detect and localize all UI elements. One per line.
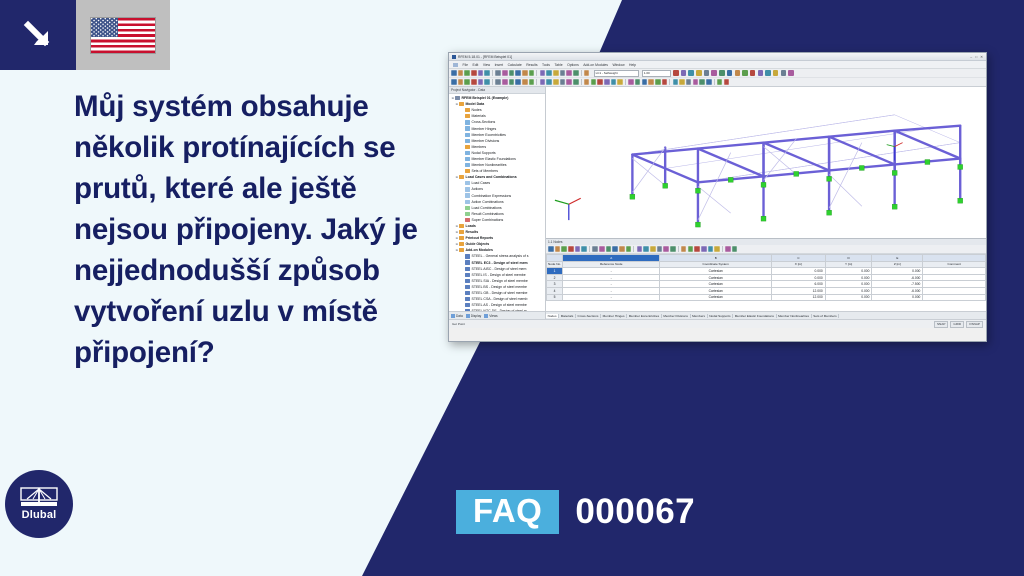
toolbar-icon-35[interactable] — [673, 79, 679, 85]
toolbar-icon-ext-11[interactable] — [758, 70, 764, 76]
menu-item-insert[interactable]: Insert — [495, 63, 503, 67]
table-cell-z[interactable]: 0.000 — [872, 294, 923, 301]
main-toolbar[interactable]: LC1 - Selfweight1.00 — [449, 69, 986, 78]
view-column: 1.1 Nodes ABCDE Node No.Reference NodeCo… — [546, 87, 986, 319]
grid-corner — [547, 255, 563, 262]
toolbar-icon-22[interactable] — [591, 79, 597, 85]
tree-item-label: Member Divisions — [472, 139, 500, 143]
tree-item-label: Model Data — [466, 102, 485, 106]
table-tab-member-nonlinearities[interactable]: Member Nonlinearities — [777, 314, 812, 318]
toolbar-separator — [714, 79, 715, 85]
nodes-grid[interactable]: ABCDE Node No.Reference NodeCoordinate S… — [546, 254, 986, 311]
toolbar-icon-11[interactable] — [522, 70, 528, 76]
toolbar-icon-14[interactable] — [540, 79, 546, 85]
tree-item-icon — [465, 181, 470, 185]
toolbar-icon-ext-15[interactable] — [788, 70, 794, 76]
table-cell-no[interactable]: 2 — [547, 274, 563, 281]
toolbar-icon-0[interactable] — [548, 246, 554, 252]
grid-column-comment[interactable] — [923, 255, 986, 262]
tree-item-icon — [465, 297, 470, 301]
tree-item-icon — [465, 212, 470, 216]
tree-item-label: Cross-Sections — [472, 120, 496, 124]
work-area: Project Navigator - Data ⊞RFEM Beispiel … — [449, 87, 986, 319]
toolbar-icon-30[interactable] — [642, 79, 648, 85]
us-flag-icon — [91, 18, 155, 53]
tree-item-icon — [465, 260, 470, 264]
toolbar-icon-ext-8[interactable] — [735, 70, 741, 76]
table-cell-no[interactable]: 1 — [547, 268, 563, 275]
navigator-tab-display[interactable]: Display — [466, 314, 481, 318]
coordinate-axis-icon — [555, 198, 581, 220]
table-cell-sys[interactable]: Cartesian — [660, 274, 772, 281]
toolbar-icon-ext-5[interactable] — [711, 70, 717, 76]
tree-item-icon — [459, 242, 464, 246]
toolbar-icon-3[interactable] — [471, 70, 477, 76]
tree-item-icon — [459, 175, 464, 179]
tree-item-label: STEEL GB - Design of steel membe — [472, 291, 528, 295]
toolbar-icon-36[interactable] — [679, 79, 685, 85]
menu-bar[interactable]: FileEditViewInsertCalculateResultsToolsT… — [449, 61, 986, 69]
toolbar-icon-23[interactable] — [694, 246, 700, 252]
tree-item-label: Super Combinations — [472, 218, 504, 222]
toolbar-icon-2[interactable] — [561, 246, 567, 252]
tree-item-label: Result Combinations — [472, 212, 504, 216]
toolbar-icon-18[interactable] — [566, 70, 572, 76]
toolbar-icon-12[interactable] — [529, 79, 535, 85]
toolbar-icon-8[interactable] — [502, 79, 508, 85]
toolbar-icon-39[interactable] — [699, 79, 705, 85]
status-left-text: Get Point — [452, 322, 465, 326]
tree-item-icon — [465, 187, 470, 191]
tree-item-label: Materials — [472, 114, 486, 118]
toolbar-separator — [633, 246, 634, 252]
toolbar-icon-15[interactable] — [546, 70, 552, 76]
toolbar-icon-38[interactable] — [693, 79, 699, 85]
table-cell-sys[interactable]: Cartesian — [660, 287, 772, 294]
toolbar-icon-17[interactable] — [560, 70, 566, 76]
slide-canvas: Můj systém obsahuje několik protínajícíc… — [0, 0, 1024, 576]
tree-item-icon — [465, 145, 470, 149]
toolbar-icon-4[interactable] — [478, 79, 484, 85]
tree-item-icon — [465, 120, 470, 124]
menu-item-file[interactable]: File — [463, 63, 468, 67]
table-cell-x[interactable]: 0.000 — [772, 268, 826, 275]
navigator-tab-data[interactable]: Data — [451, 314, 463, 318]
tree-item-icon — [465, 108, 470, 112]
navigator-tab-views[interactable]: Views — [484, 314, 497, 318]
table-panel[interactable]: 1.1 Nodes ABCDE Node No.Reference NodeCo… — [546, 238, 986, 319]
toolbar-icon-26[interactable] — [714, 246, 720, 252]
toolbar-icon-37[interactable] — [686, 79, 692, 85]
maximize-button[interactable]: □ — [975, 55, 977, 59]
project-navigator[interactable]: Project Navigator - Data ⊞RFEM Beispiel … — [449, 87, 546, 319]
toolbar-icon-29[interactable] — [732, 246, 738, 252]
tree-item-label: Member Eccentricities — [472, 133, 506, 137]
tree-item-label: Add-on Modules — [466, 248, 493, 252]
navigator-tree[interactable]: ⊞RFEM Beispiel 01 (Example)⊞Model DataNo… — [449, 94, 545, 311]
table-cell-comment[interactable] — [923, 281, 986, 288]
table-cell-comment[interactable] — [923, 268, 986, 275]
tree-item-label: STEEL BS - Design of steel membe — [472, 285, 528, 289]
toolbar-icon-21[interactable] — [584, 79, 590, 85]
table-cell-z[interactable]: 0.000 — [872, 268, 923, 275]
menu-item-tools[interactable]: Tools — [542, 63, 550, 67]
tree-item-label: STEEL IS - Design of steel membe — [472, 273, 526, 277]
toolbar-icon-ext-4[interactable] — [704, 70, 710, 76]
navigator-tabs[interactable]: DataDisplayViews — [449, 311, 545, 319]
table-cell-ref[interactable]: - — [563, 294, 660, 301]
navigator-header: Project Navigator - Data — [449, 87, 545, 94]
toolbar-separator — [536, 79, 537, 85]
toolbar-icon-ext-13[interactable] — [773, 70, 779, 76]
faq-label-badge: FAQ — [456, 490, 559, 534]
menu-item-help[interactable]: Help — [629, 63, 636, 67]
table-cell-y[interactable]: 0.000 — [825, 268, 872, 275]
dlubal-logo-text: Dlubal — [22, 509, 57, 521]
table-tab-nodes[interactable]: Nodes — [546, 314, 559, 318]
table-toolbar[interactable] — [546, 245, 986, 254]
table-cell-sys[interactable]: Cartesian — [660, 268, 772, 275]
toolbar-separator — [581, 70, 582, 76]
arrow-down-right-icon — [0, 0, 76, 70]
tree-item-label: STEEL EC3 - Design of steel mem — [472, 261, 528, 265]
toolbar-icon-24[interactable] — [604, 79, 610, 85]
menu-item-add-on-modules[interactable]: Add-on Modules — [583, 63, 608, 67]
toolbar-icon-23[interactable] — [597, 79, 603, 85]
status-bar: Get Point SNAPGRIDOSNAP — [449, 319, 986, 328]
table-cell-no[interactable]: 3 — [547, 281, 563, 288]
grid-column-letter[interactable]: A — [563, 255, 660, 262]
toolbar-icon-15[interactable] — [643, 246, 649, 252]
table-cell-y[interactable]: 0.000 — [825, 274, 872, 281]
toolbar-separator — [492, 70, 493, 76]
tree-item-label: Member Hinges — [472, 127, 497, 131]
tab-label: Display — [471, 314, 481, 318]
tree-item-label: Sets of Members — [472, 169, 498, 173]
grid-column-letter[interactable]: D — [825, 255, 872, 262]
toolbar-icon-ext-14[interactable] — [781, 70, 787, 76]
grid-column-letter[interactable]: B — [660, 255, 772, 262]
toolbar-separator — [669, 79, 670, 85]
tree-item-label: Member Elastic Foundations — [472, 157, 516, 161]
table-cell-ref[interactable]: - — [563, 281, 660, 288]
menu-item-options[interactable]: Options — [567, 63, 579, 67]
tab-icon — [451, 314, 455, 318]
tree-item-icon — [465, 151, 470, 155]
toolbar-icon-9[interactable] — [509, 70, 515, 76]
close-button[interactable]: ✕ — [980, 55, 983, 59]
toolbar-icon-10[interactable] — [515, 70, 521, 76]
table-cell-x[interactable]: 0.000 — [772, 274, 826, 281]
window-titlebar: RFEM 5.18.01 - [RFEM Beispiel 01] – □ ✕ — [449, 53, 986, 61]
toolbar-icon-42[interactable] — [717, 79, 723, 85]
table-tab-members[interactable]: Members — [691, 314, 708, 318]
toolbar-icon-43[interactable] — [724, 79, 730, 85]
faq-footer: FAQ 000067 — [456, 490, 695, 534]
tree-item-icon — [465, 218, 470, 222]
question-text: Můj systém obsahuje několik protínajícíc… — [74, 86, 434, 373]
toolbar-separator — [492, 79, 493, 85]
table-tab-member-elastic-foundations[interactable]: Member Elastic Foundations — [733, 314, 776, 318]
tree-item-label: Nodal Supports — [472, 151, 496, 155]
minimize-button[interactable]: – — [970, 55, 972, 59]
toolbar-separator — [625, 79, 626, 85]
table-cell-y[interactable]: 0.000 — [825, 281, 872, 288]
toolbar-icon-29[interactable] — [635, 79, 641, 85]
tab-label: Data — [456, 314, 463, 318]
rfem-application-window[interactable]: RFEM 5.18.01 - [RFEM Beispiel 01] – □ ✕ … — [448, 52, 987, 342]
tree-item-label: Combination Expressions — [472, 194, 512, 198]
toolbar-icon-12[interactable] — [529, 70, 535, 76]
status-toggle-grid[interactable]: GRID — [950, 321, 964, 328]
toolbar-icon-12[interactable] — [626, 246, 632, 252]
toolbar-icon-11[interactable] — [522, 79, 528, 85]
toolbar-icon-33[interactable] — [662, 79, 668, 85]
table-cell-no[interactable]: 4 — [547, 287, 563, 294]
tree-item-label: Printout Reports — [466, 236, 494, 240]
table-tab-member-eccentricities[interactable]: Member Eccentricities — [627, 314, 662, 318]
toolbar-icon-19[interactable] — [573, 79, 579, 85]
table-tab-materials[interactable]: Materials — [559, 314, 576, 318]
tree-item-label: Member Nonlinearities — [472, 163, 507, 167]
tree-item-label: STEEL AISC - Design of steel mem — [472, 267, 527, 271]
tree-item-icon — [459, 248, 464, 252]
table-row[interactable]: 4-Cartesian12.0000.000-6.000 — [547, 287, 986, 294]
table-cell-ref[interactable]: - — [563, 274, 660, 281]
table-cell-sys[interactable]: Cartesian — [660, 281, 772, 288]
toolbar-icon-5[interactable] — [484, 70, 490, 76]
toolbar-icon-14[interactable] — [540, 70, 546, 76]
table-cell-ref[interactable]: - — [563, 287, 660, 294]
tree-item-label: Loads — [466, 224, 476, 228]
grid-header: Reference Node — [563, 261, 660, 268]
grid-header-coord: X [m] — [772, 261, 826, 268]
toolbar-separator — [678, 246, 679, 252]
table-row[interactable]: 5-Cartesian12.0000.0000.000 — [547, 294, 986, 301]
tree-item-icon — [465, 267, 470, 271]
tree-item-label: RFEM Beispiel 01 (Example) — [462, 96, 509, 100]
table-cell-ref[interactable]: - — [563, 268, 660, 275]
toolbar-icon-9[interactable] — [509, 79, 515, 85]
tree-item-icon — [465, 133, 470, 137]
table-row[interactable]: 1-Cartesian0.0000.0000.000 — [547, 268, 986, 275]
toolbar-icon-28[interactable] — [628, 79, 634, 85]
toolbar-icon-1[interactable] — [458, 79, 464, 85]
toolbar-separator — [589, 246, 590, 252]
table-cell-y[interactable]: 0.000 — [825, 294, 872, 301]
toolbar-icon-22[interactable] — [688, 246, 694, 252]
tree-item-label: STEEL SIA - Design of steel membe — [472, 279, 528, 283]
tree-item-label: Members — [472, 145, 487, 149]
toolbar-icon-ext-2[interactable] — [688, 70, 694, 76]
tree-item-icon — [465, 206, 470, 210]
table-tab-cross-sections[interactable]: Cross-Sections — [576, 314, 601, 318]
toolbar-icon-7[interactable] — [495, 70, 501, 76]
toolbar-icon-ext-12[interactable] — [765, 70, 771, 76]
toolbar-icon-10[interactable] — [515, 79, 521, 85]
grid-column-letter[interactable]: C — [772, 255, 826, 262]
table-cell-z[interactable]: -6.000 — [872, 287, 923, 294]
toolbar-icon-11[interactable] — [619, 246, 625, 252]
tree-item-label: Load Combinations — [472, 206, 502, 210]
toolbar-icon-0[interactable] — [451, 79, 457, 85]
factor-combo[interactable]: 1.00 — [642, 70, 671, 77]
table-tab-sets-of-members[interactable]: Sets of Members — [812, 314, 840, 318]
table-tab-member-divisions[interactable]: Member Divisions — [662, 314, 691, 318]
table-cell-x[interactable]: 12.000 — [772, 294, 826, 301]
table-row[interactable]: 3-Cartesian6.0000.000-7.500 — [547, 281, 986, 288]
table-cell-x[interactable]: 6.000 — [772, 281, 826, 288]
toolbar-icon-4[interactable] — [478, 70, 484, 76]
toolbar-icon-2[interactable] — [464, 79, 470, 85]
toolbar-icon-31[interactable] — [648, 79, 654, 85]
toolbar-icon-25[interactable] — [708, 246, 714, 252]
toolbar-icon-0[interactable] — [451, 70, 457, 76]
tree-item-icon — [465, 126, 470, 130]
toolbar-icon-19[interactable] — [670, 246, 676, 252]
toolbar-icon-25[interactable] — [611, 79, 617, 85]
toolbar-icon-28[interactable] — [725, 246, 731, 252]
tree-item-label: Nodes — [472, 108, 482, 112]
menu-item-table[interactable]: Table — [554, 63, 562, 67]
dlubal-bridge-icon — [20, 487, 58, 508]
table-tab-nodal-supports[interactable]: Nodal Supports — [708, 314, 734, 318]
toolbar-icon-7[interactable] — [495, 79, 501, 85]
dlubal-logo[interactable]: Dlubal — [5, 470, 73, 538]
tree-item-label: Actions — [472, 187, 483, 191]
menu-item-results[interactable]: Results — [526, 63, 537, 67]
menu-item-view[interactable]: View — [483, 63, 490, 67]
table-cell-comment[interactable] — [923, 287, 986, 294]
table-tabs[interactable]: NodesMaterialsCross-SectionsMember Hinge… — [546, 311, 986, 319]
tree-item-label: STEEL CSA - Design of steel memb — [472, 297, 528, 301]
secondary-toolbar[interactable] — [449, 78, 986, 87]
toolbar-icon-3[interactable] — [568, 246, 574, 252]
toolbar-icon-16[interactable] — [650, 246, 656, 252]
menu-item-edit[interactable]: Edit — [472, 63, 478, 67]
window-title: RFEM 5.18.01 - [RFEM Beispiel 01] — [458, 55, 512, 59]
toolbar-separator — [536, 70, 537, 76]
toolbar-icon-40[interactable] — [706, 79, 712, 85]
tree-item-icon — [465, 157, 470, 161]
toolbar-icon-16[interactable] — [553, 79, 559, 85]
tree-item-icon — [465, 114, 470, 118]
menu-item-window[interactable]: Window — [612, 63, 624, 67]
toolbar-icon-ext-10[interactable] — [750, 70, 756, 76]
toolbar-icon-ext-9[interactable] — [742, 70, 748, 76]
toolbar-icon-3[interactable] — [471, 79, 477, 85]
tab-icon — [466, 314, 470, 318]
toolbar-separator — [722, 246, 723, 252]
toolbar-icon-ext-3[interactable] — [696, 70, 702, 76]
toolbar-icon-ext-1[interactable] — [681, 70, 687, 76]
table-cell-y[interactable]: 0.000 — [825, 287, 872, 294]
toolbar-icon-16[interactable] — [553, 70, 559, 76]
toolbar-icon-2[interactable] — [464, 70, 470, 76]
toolbar-icon-7[interactable] — [592, 246, 598, 252]
table-cell-z[interactable]: -6.000 — [872, 274, 923, 281]
tree-item-icon — [465, 285, 470, 289]
toolbar-icon-18[interactable] — [566, 79, 572, 85]
toolbar-icon-ext-7[interactable] — [727, 70, 733, 76]
tree-item-label: Results — [466, 230, 479, 234]
toolbar-icon-4[interactable] — [575, 246, 581, 252]
toolbar-icon-26[interactable] — [617, 79, 623, 85]
menu-grip-icon — [453, 63, 458, 67]
grid-header-comment: Comment — [923, 261, 986, 268]
table-tab-member-hinges[interactable]: Member Hinges — [601, 314, 627, 318]
toolbar-icon-15[interactable] — [546, 79, 552, 85]
tree-item-icon — [465, 163, 470, 167]
toolbar-icon-ext-6[interactable] — [719, 70, 725, 76]
toolbar-icon-21[interactable] — [584, 70, 590, 76]
faq-number: 000067 — [575, 492, 695, 532]
toolbar-icon-1[interactable] — [458, 70, 464, 76]
grid-column-letter[interactable]: E — [872, 255, 923, 262]
language-flag-badge[interactable] — [76, 0, 170, 70]
tree-item-label: STEEL - General stress analysis of s — [472, 254, 529, 258]
grid-header: Coordinate System — [660, 261, 772, 268]
table-cell-x[interactable]: 12.000 — [772, 287, 826, 294]
tree-item-label: Guide Objects — [466, 242, 490, 246]
status-cells[interactable]: SNAPGRIDOSNAP — [934, 321, 983, 328]
toolbar-icon-17[interactable] — [560, 79, 566, 85]
table-cell-comment[interactable] — [923, 294, 986, 301]
load-case-combo[interactable]: LC1 - Selfweight — [594, 70, 639, 77]
toolbar-icon-24[interactable] — [701, 246, 707, 252]
toolbar-icon-8[interactable] — [502, 70, 508, 76]
model-3d-viewport[interactable] — [546, 87, 986, 238]
tree-item-label: Load Cases — [472, 181, 491, 185]
table-cell-comment[interactable] — [923, 274, 986, 281]
tree-item-label: STEEL AS - Design of steel membe — [472, 303, 527, 307]
tree-item-icon — [459, 224, 464, 228]
tree-item-icon — [459, 102, 464, 106]
tree-item-icon — [465, 139, 470, 143]
tree-item-icon — [465, 169, 470, 173]
rfem-app-icon — [452, 55, 456, 59]
toolbar-icon-17[interactable] — [657, 246, 663, 252]
table-row[interactable]: 2-Cartesian0.0000.000-6.000 — [547, 274, 986, 281]
toolbar-icon-18[interactable] — [663, 246, 669, 252]
toolbar-icon-5[interactable] — [581, 246, 587, 252]
toolbar-icon-32[interactable] — [655, 79, 661, 85]
toolbar-icon-ext-0[interactable] — [673, 70, 679, 76]
tab-icon — [484, 314, 488, 318]
tree-item-icon — [465, 200, 470, 204]
tree-item-icon — [455, 96, 460, 100]
status-toggle-snap[interactable]: SNAP — [934, 321, 948, 328]
toolbar-icon-19[interactable] — [573, 70, 579, 76]
table-cell-z[interactable]: -7.500 — [872, 281, 923, 288]
status-toggle-osnap[interactable]: OSNAP — [966, 321, 983, 328]
tree-item-icon — [459, 236, 464, 240]
tree-item-icon — [465, 291, 470, 295]
toolbar-icon-21[interactable] — [681, 246, 687, 252]
toolbar-icon-8[interactable] — [599, 246, 605, 252]
toolbar-icon-10[interactable] — [612, 246, 618, 252]
toolbar-icon-5[interactable] — [484, 79, 490, 85]
tree-item-icon — [465, 193, 470, 197]
table-cell-no[interactable]: 5 — [547, 294, 563, 301]
tree-item-icon — [465, 273, 470, 277]
grid-header-coord: Z [m] — [872, 261, 923, 268]
toolbar-icon-1[interactable] — [555, 246, 561, 252]
toolbar-icon-9[interactable] — [606, 246, 612, 252]
toolbar-icon-14[interactable] — [637, 246, 643, 252]
table-cell-sys[interactable]: Cartesian — [660, 294, 772, 301]
menu-item-calculate[interactable]: Calculate — [508, 63, 522, 67]
